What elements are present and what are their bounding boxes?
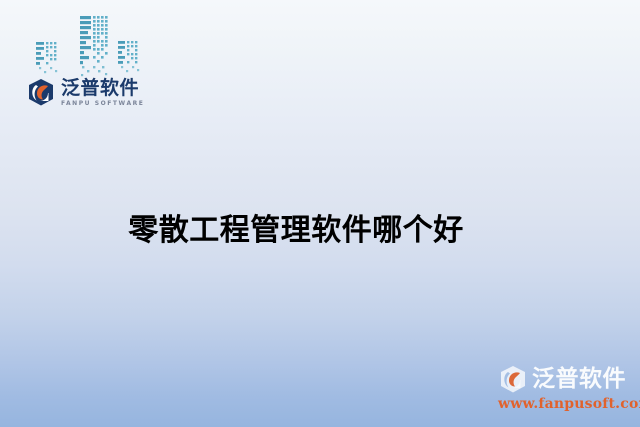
watermark-url: www.fanpusoft.com [498, 396, 634, 412]
slide-canvas: 泛普软件 FANPU SOFTWARE 零散工程管理软件哪个好 泛普软件 www… [0, 0, 640, 427]
fanpu-logo-lockup: 泛普软件 FANPU SOFTWARE [26, 78, 144, 107]
watermark: 泛普软件 www.fanpusoft.com [498, 365, 634, 419]
fanpu-logo-mark-icon [498, 365, 528, 394]
brand-name-en: FANPU SOFTWARE [61, 101, 144, 107]
page-title: 零散工程管理软件哪个好 [0, 214, 640, 249]
watermark-logo-row: 泛普软件 [498, 365, 634, 394]
fanpu-logo-wordmark: 泛普软件 FANPU SOFTWARE [61, 79, 144, 107]
pixel-city-skyline-icon [22, 8, 162, 80]
brand-block: 泛普软件 FANPU SOFTWARE [22, 8, 162, 116]
fanpu-logo-mark-icon [26, 78, 56, 107]
brand-name-cn: 泛普软件 [61, 79, 144, 98]
watermark-brand-name: 泛普软件 [532, 368, 626, 391]
